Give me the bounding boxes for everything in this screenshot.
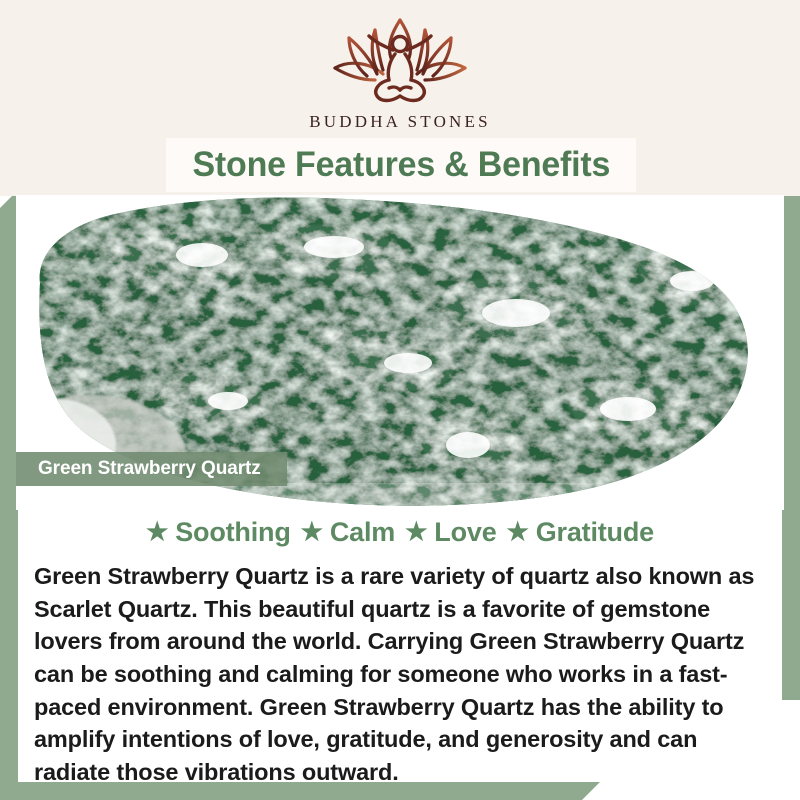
star-icon: ★ (301, 520, 323, 545)
feature-item-calm: ★ Calm (291, 517, 395, 548)
photo-caption: Green Strawberry Quartz (16, 452, 287, 486)
feature-item-gratitude: ★ Gratitude (497, 517, 654, 548)
header: BUDDHA STONES Stone Features & Benefits (0, 0, 800, 196)
star-icon: ★ (507, 520, 529, 545)
feature-item-love: ★ Love (395, 517, 496, 548)
feature-label-calm: Calm (330, 517, 395, 548)
description-paragraph: Green Strawberry Quartz is a rare variet… (18, 560, 782, 789)
content-section: ★ Soothing ★ Calm ★ Love ★ Gratitude Gre… (18, 512, 782, 800)
brand-name: BUDDHA STONES (0, 112, 800, 132)
feature-label-love: Love (434, 517, 496, 548)
lotus-meditation-icon (325, 16, 475, 108)
photo-caption-label: Green Strawberry Quartz (38, 458, 261, 480)
page-title: Stone Features & Benefits (192, 145, 610, 185)
star-icon: ★ (146, 520, 168, 545)
brand-logo: BUDDHA STONES (0, 16, 800, 132)
star-icon: ★ (405, 520, 427, 545)
stone-photo: Green Strawberry Quartz (16, 195, 784, 510)
feature-item-soothing: ★ Soothing (146, 517, 291, 548)
feature-label-soothing: Soothing (175, 517, 290, 548)
title-banner: Stone Features & Benefits (166, 138, 636, 192)
feature-label-gratitude: Gratitude (536, 517, 654, 548)
feature-list: ★ Soothing ★ Calm ★ Love ★ Gratitude (18, 512, 782, 552)
infographic-page: BUDDHA STONES Stone Features & Benefits (0, 0, 800, 800)
